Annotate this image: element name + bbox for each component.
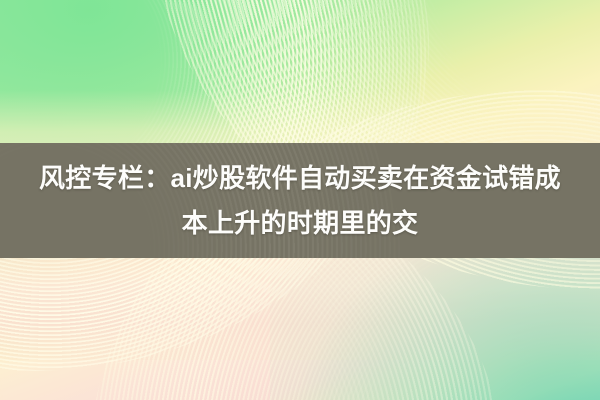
banner-title: 风控专栏：ai炒股软件自动买卖在资金试错成本上升的时期里的交: [26, 156, 574, 246]
banner-image: 风控专栏：ai炒股软件自动买卖在资金试错成本上升的时期里的交: [0, 0, 600, 400]
title-band: 风控专栏：ai炒股软件自动买卖在资金试错成本上升的时期里的交: [0, 143, 600, 258]
